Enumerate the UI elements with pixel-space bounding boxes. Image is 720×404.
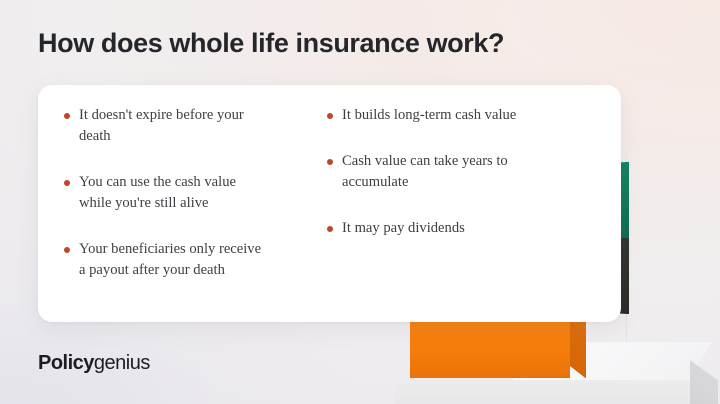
logo-light-text: genius: [94, 352, 150, 374]
bullet-column-right: It builds long-term cash value Cash valu…: [327, 105, 532, 281]
bullet-dot-icon: [64, 113, 70, 119]
policygenius-logo: Policygenius: [38, 352, 150, 375]
page-title: How does whole life insurance work?: [38, 28, 504, 59]
list-item: You can use the cash value while you're …: [64, 172, 269, 214]
list-item-label: It doesn't expire before your death: [79, 105, 269, 147]
orange-pedestal-box-face: [410, 316, 570, 378]
list-item: Cash value can take years to accumulate: [327, 151, 532, 193]
list-item-label: It builds long-term cash value: [342, 105, 516, 126]
list-item-label: You can use the cash value while you're …: [79, 172, 269, 214]
list-item: It doesn't expire before your death: [64, 105, 269, 147]
list-item-label: It may pay dividends: [342, 218, 465, 239]
bullet-dot-icon: [327, 226, 333, 232]
logo-bold-text: Policy: [38, 352, 94, 374]
list-item-label: Cash value can take years to accumulate: [342, 151, 532, 193]
bullet-columns: It doesn't expire before your death You …: [64, 105, 621, 281]
white-platform-right-side: [690, 360, 718, 404]
list-item: It builds long-term cash value: [327, 105, 532, 126]
bullet-dot-icon: [327, 159, 333, 165]
list-item: It may pay dividends: [327, 218, 532, 239]
bullet-dot-icon: [64, 180, 70, 186]
content-card: It doesn't expire before your death You …: [38, 85, 621, 322]
list-item-label: Your beneficiaries only receive a payout…: [79, 239, 269, 281]
bullet-column-left: It doesn't expire before your death You …: [64, 105, 269, 281]
bullet-dot-icon: [327, 113, 333, 119]
list-item: Your beneficiaries only receive a payout…: [64, 239, 269, 281]
white-platform-right-face: [395, 380, 690, 404]
bullet-dot-icon: [64, 247, 70, 253]
